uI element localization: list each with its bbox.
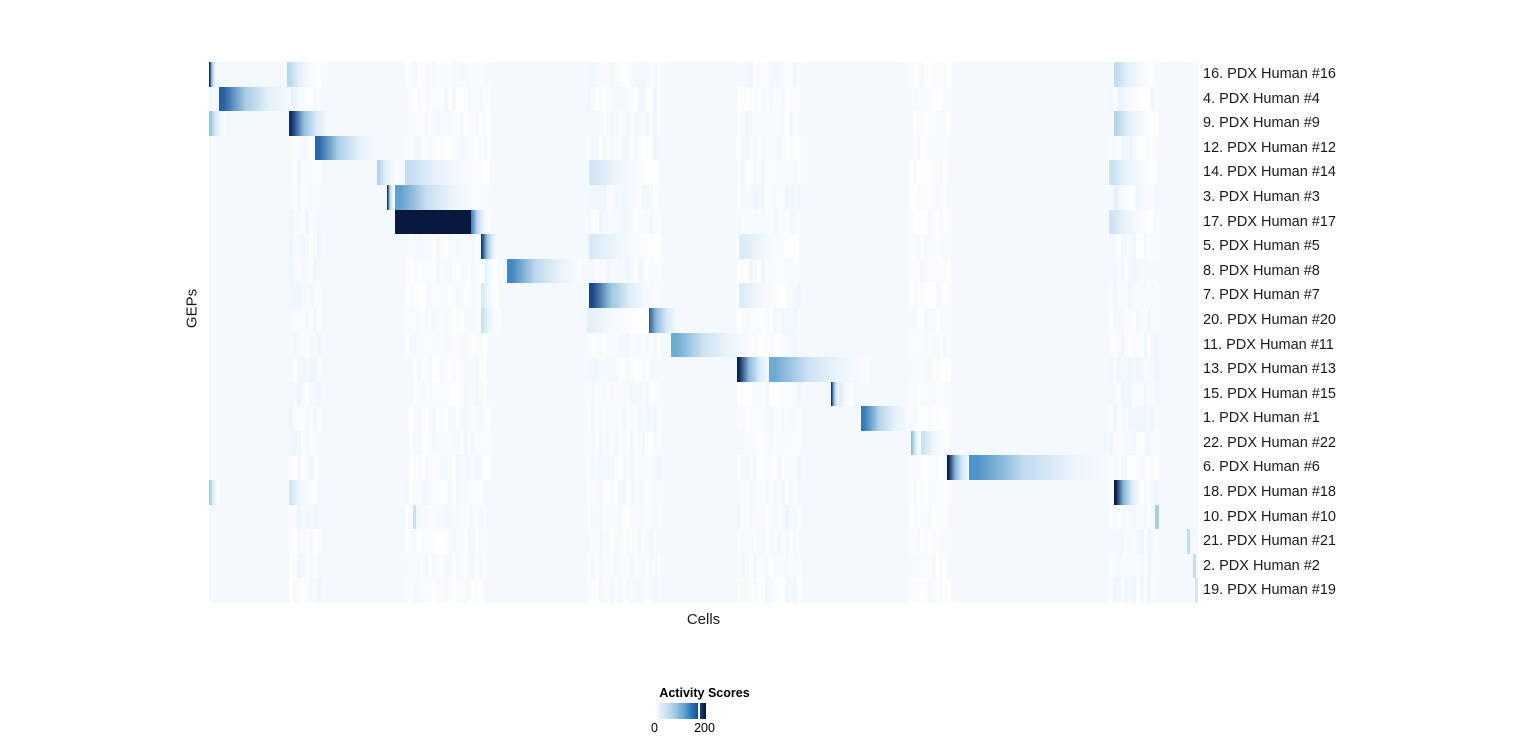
colorbar-tick-label: 0	[651, 721, 658, 735]
heatmap-noise-cell	[657, 333, 661, 358]
heatmap-noise-cell	[1155, 87, 1159, 112]
heatmap-block	[739, 283, 787, 308]
heatmap-noise-cell	[797, 210, 801, 235]
heatmap-noise-cell	[317, 185, 321, 210]
heatmap-noise-cell	[657, 505, 661, 530]
heatmap-block	[1155, 505, 1159, 530]
heatmap-noise-cell	[947, 529, 951, 554]
heatmap-noise-cell	[797, 185, 801, 210]
heatmap-noise-cell	[797, 382, 801, 407]
heatmap-noise-cell	[317, 234, 321, 259]
heatmap-noise-cell	[797, 455, 801, 480]
colorbar-legend: Activity Scores 0200	[640, 686, 810, 741]
heatmap-block	[507, 259, 581, 284]
heatmap-noise-cell	[797, 87, 801, 112]
row-label: 7. PDX Human #7	[1203, 283, 1320, 308]
heatmap-row	[209, 455, 1198, 480]
heatmap-block	[377, 160, 399, 185]
heatmap-noise-cell	[797, 406, 801, 431]
colorbar-tick-label: 200	[694, 721, 715, 735]
heatmap-block	[831, 382, 839, 407]
row-label: 4. PDX Human #4	[1203, 87, 1320, 112]
heatmap-noise-cell	[487, 136, 491, 161]
row-label: 14. PDX Human #14	[1203, 160, 1336, 185]
heatmap-noise-cell	[1155, 431, 1159, 456]
heatmap-noise-cell	[317, 382, 321, 407]
heatmap-block	[481, 308, 501, 333]
heatmap-noise-cell	[1155, 283, 1159, 308]
heatmap-noise-cell	[797, 333, 801, 358]
heatmap-block	[1114, 480, 1139, 505]
heatmap-noise-cell	[947, 210, 951, 235]
heatmap-row	[209, 210, 1198, 235]
row-label: 8. PDX Human #8	[1203, 259, 1320, 284]
heatmap-noise-cell	[317, 480, 321, 505]
heatmap-noise-cell	[317, 554, 321, 579]
heatmap-noise-cell	[487, 431, 491, 456]
heatmap-noise-cell	[947, 333, 951, 358]
heatmap-block	[413, 505, 416, 530]
heatmap-noise-cell	[947, 160, 951, 185]
heatmap-noise-cell	[947, 87, 951, 112]
heatmap-noise-cell	[487, 455, 491, 480]
heatmap-block	[769, 357, 869, 382]
heatmap-noise-cell	[657, 382, 661, 407]
heatmap-noise-cell	[1155, 554, 1159, 579]
heatmap-noise-cell	[487, 357, 491, 382]
heatmap-noise-cell	[657, 357, 661, 382]
heatmap-noise-cell	[657, 431, 661, 456]
heatmap-noise-cell	[947, 185, 951, 210]
heatmap-noise-cell	[797, 160, 801, 185]
heatmap-noise-cell	[487, 333, 491, 358]
heatmap-noise-cell	[317, 431, 321, 456]
heatmap-block	[861, 406, 909, 431]
row-label: 19. PDX Human #19	[1203, 578, 1336, 603]
row-label: 9. PDX Human #9	[1203, 111, 1320, 136]
heatmap-block	[395, 185, 477, 210]
heatmap-block	[1187, 529, 1190, 554]
heatmap-block	[315, 136, 377, 161]
heatmap-noise-cell	[947, 480, 951, 505]
heatmap-noise-cell	[317, 578, 321, 603]
heatmap-noise-cell	[317, 455, 321, 480]
heatmap-block	[739, 234, 799, 259]
heatmap-block	[209, 480, 219, 505]
heatmap-block	[589, 283, 647, 308]
heatmap-noise-cell	[317, 357, 321, 382]
heatmap-noise-cell	[657, 111, 661, 136]
heatmap-noise-cell	[657, 480, 661, 505]
heatmap-noise-cell	[797, 554, 801, 579]
heatmap-noise-cell	[797, 259, 801, 284]
heatmap-noise-cell	[947, 578, 951, 603]
heatmap-noise-cell	[1155, 62, 1159, 87]
heatmap-block	[589, 160, 659, 185]
heatmap-noise-cell	[487, 210, 491, 235]
row-label: 10. PDX Human #10	[1203, 505, 1336, 530]
heatmap-noise-cell	[317, 308, 321, 333]
heatmap-noise-cell	[657, 259, 661, 284]
heatmap-noise-cell	[487, 87, 491, 112]
heatmap-block	[471, 210, 487, 235]
heatmap-block	[289, 480, 317, 505]
heatmap-noise-cell	[487, 185, 491, 210]
heatmap-row	[209, 234, 1198, 259]
heatmap-block	[1195, 578, 1198, 603]
heatmap-noise-cell	[657, 62, 661, 87]
heatmap-noise-cell	[1155, 136, 1159, 161]
heatmap-noise-cell	[1155, 210, 1159, 235]
row-label: 17. PDX Human #17	[1203, 210, 1336, 235]
heatmap-block	[911, 431, 921, 456]
heatmap-noise-cell	[317, 283, 321, 308]
heatmap-noise-cell	[487, 480, 491, 505]
heatmap-noise-cell	[487, 382, 491, 407]
heatmap-noise-cell	[657, 136, 661, 161]
heatmap-noise-cell	[657, 283, 661, 308]
heatmap-block	[1117, 87, 1149, 112]
heatmap-block	[291, 87, 313, 112]
heatmap-block	[219, 87, 289, 112]
heatmap-block	[839, 382, 853, 407]
heatmap-noise-cell	[487, 406, 491, 431]
row-label-list: 16. PDX Human #164. PDX Human #49. PDX H…	[1203, 62, 1523, 603]
heatmap-row	[209, 87, 1198, 112]
row-label: 13. PDX Human #13	[1203, 357, 1336, 382]
heatmap-block	[1109, 160, 1157, 185]
heatmap-noise-cell	[317, 333, 321, 358]
heatmap-noise-cell	[797, 578, 801, 603]
heatmap-noise-cell	[317, 87, 321, 112]
row-label: 11. PDX Human #11	[1203, 333, 1334, 358]
heatmap-noise-cell	[487, 62, 491, 87]
heatmap-noise-cell	[317, 529, 321, 554]
heatmap-noise-cell	[947, 382, 951, 407]
heatmap-noise-cell	[797, 505, 801, 530]
heatmap-noise-cell	[487, 505, 491, 530]
heatmap-row	[209, 578, 1198, 603]
heatmap-block	[671, 333, 754, 358]
heatmap-block	[481, 234, 497, 259]
heatmap-row	[209, 259, 1198, 284]
heatmap-noise-cell	[797, 308, 801, 333]
heatmap-row	[209, 357, 1198, 382]
heatmap-noise-cell	[317, 259, 321, 284]
row-label: 18. PDX Human #18	[1203, 480, 1336, 505]
heatmap-noise-cell	[1155, 333, 1159, 358]
heatmap-block	[485, 259, 497, 284]
heatmap-row	[209, 308, 1198, 333]
heatmap-noise-cell	[1155, 308, 1159, 333]
heatmap-row	[209, 529, 1198, 554]
heatmap-noise-cell	[1155, 480, 1159, 505]
heatmap-noise-cell	[947, 234, 951, 259]
heatmap-block	[481, 283, 499, 308]
heatmap-block	[395, 210, 471, 235]
heatmap-noise-cell	[657, 529, 661, 554]
heatmap-row	[209, 554, 1198, 579]
heatmap-noise-cell	[947, 308, 951, 333]
heatmap-noise-cell	[947, 505, 951, 530]
heatmap-noise-cell	[1155, 259, 1159, 284]
heatmap-noise-cell	[1155, 382, 1159, 407]
heatmap-block	[289, 111, 329, 136]
heatmap-noise-cell	[657, 406, 661, 431]
heatmap-row	[209, 333, 1198, 358]
heatmap-noise-cell	[487, 111, 491, 136]
heatmap-noise-cell	[487, 554, 491, 579]
heatmap-row	[209, 136, 1198, 161]
heatmap-noise-cell	[317, 160, 321, 185]
colorbar-title: Activity Scores	[640, 686, 769, 700]
x-axis-label: Cells	[209, 611, 1198, 628]
heatmap-noise-cell	[1155, 185, 1159, 210]
heatmap-noise-cell	[797, 480, 801, 505]
row-label: 6. PDX Human #6	[1203, 455, 1320, 480]
heatmap-block	[405, 160, 489, 185]
heatmap-noise-cell	[947, 283, 951, 308]
heatmap-block	[1109, 210, 1154, 235]
heatmap-noise-cell	[947, 111, 951, 136]
row-label: 5. PDX Human #5	[1203, 234, 1320, 259]
heatmap-noise-cell	[947, 357, 951, 382]
heatmap-noise-cell	[797, 431, 801, 456]
heatmap-block	[387, 185, 393, 210]
heatmap-noise-cell	[317, 210, 321, 235]
heatmap-noise-cell	[487, 578, 491, 603]
heatmap-noise-cell	[487, 529, 491, 554]
heatmap-block	[1114, 111, 1154, 136]
row-label: 12. PDX Human #12	[1203, 136, 1336, 161]
heatmap-row	[209, 62, 1198, 87]
heatmap-panel	[209, 62, 1198, 603]
heatmap-noise-cell	[1155, 406, 1159, 431]
y-axis-label: GEPs	[184, 289, 201, 329]
heatmap-block	[1129, 136, 1145, 161]
row-label: 1. PDX Human #1	[1203, 406, 1320, 431]
heatmap-block	[287, 62, 319, 87]
heatmap-block	[589, 234, 661, 259]
heatmap-row	[209, 406, 1198, 431]
heatmap-block	[921, 431, 949, 456]
row-label: 20. PDX Human #20	[1203, 308, 1336, 333]
heatmap-noise-cell	[657, 455, 661, 480]
heatmap-noise-cell	[947, 554, 951, 579]
row-label: 22. PDX Human #22	[1203, 431, 1336, 456]
heatmap-noise-cell	[317, 505, 321, 530]
heatmap-block	[1114, 62, 1154, 87]
row-label: 21. PDX Human #21	[1203, 529, 1336, 554]
row-label: 15. PDX Human #15	[1203, 382, 1336, 407]
heatmap-noise-cell	[797, 111, 801, 136]
heatmap-noise-cell	[657, 185, 661, 210]
heatmap-noise-cell	[947, 136, 951, 161]
heatmap-noise-cell	[797, 62, 801, 87]
heatmap-row	[209, 160, 1198, 185]
heatmap-row	[209, 480, 1198, 505]
heatmap-block	[587, 308, 649, 333]
heatmap-block	[209, 62, 216, 87]
heatmap-row	[209, 283, 1198, 308]
heatmap-block	[209, 111, 225, 136]
heatmap-noise-cell	[1155, 578, 1159, 603]
heatmap-row	[209, 505, 1198, 530]
heatmap-noise-cell	[947, 259, 951, 284]
heatmap-noise-cell	[1155, 455, 1159, 480]
row-label: 16. PDX Human #16	[1203, 62, 1336, 87]
heatmap-figure: GEPs 16. PDX Human #164. PDX Human #49. …	[0, 0, 1540, 743]
heatmap-noise-cell	[657, 210, 661, 235]
heatmap-noise-cell	[947, 62, 951, 87]
heatmap-noise-cell	[1155, 234, 1159, 259]
heatmap-block	[947, 455, 969, 480]
heatmap-row	[209, 431, 1198, 456]
row-label: 2. PDX Human #2	[1203, 554, 1320, 579]
heatmap-noise-cell	[797, 529, 801, 554]
heatmap-noise-cell	[797, 283, 801, 308]
heatmap-row	[209, 382, 1198, 407]
heatmap-noise-cell	[797, 136, 801, 161]
heatmap-noise-cell	[657, 87, 661, 112]
colorbar-tick	[698, 703, 700, 719]
heatmap-noise-cell	[1155, 357, 1159, 382]
heatmap-block	[1193, 554, 1196, 579]
heatmap-noise-cell	[1155, 529, 1159, 554]
heatmap-noise-cell	[1155, 111, 1159, 136]
heatmap-noise-cell	[317, 406, 321, 431]
heatmap-noise-cell	[947, 406, 951, 431]
heatmap-block	[737, 357, 769, 382]
heatmap-noise-cell	[657, 578, 661, 603]
row-label: 3. PDX Human #3	[1203, 185, 1320, 210]
heatmap-block	[1114, 185, 1134, 210]
heatmap-noise-cell	[657, 554, 661, 579]
heatmap-row	[209, 111, 1198, 136]
heatmap-block	[969, 455, 1114, 480]
heatmap-row	[209, 185, 1198, 210]
